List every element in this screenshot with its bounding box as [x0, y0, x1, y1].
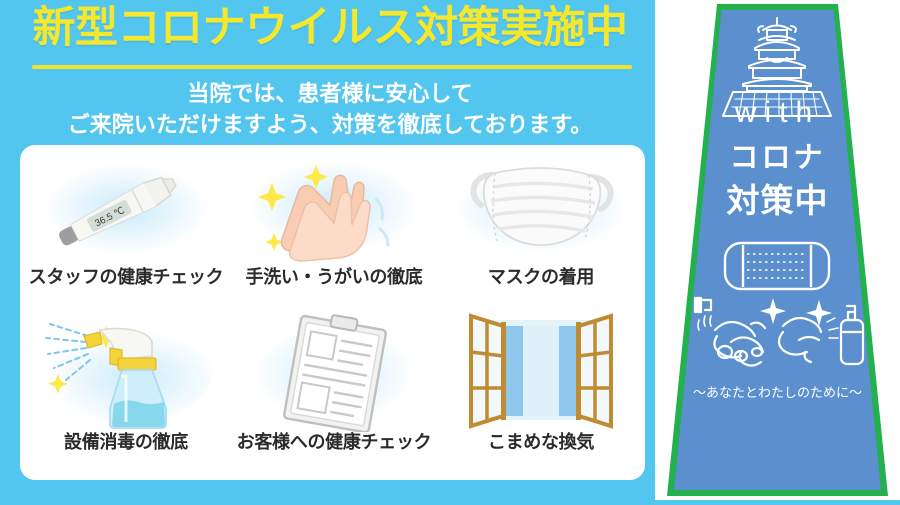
measure-item-label: こまめな換気: [437, 428, 645, 454]
measure-item-disinfection: 設備消毒の徹底: [22, 310, 230, 477]
measure-item-label: 手洗い・うがいの徹底: [230, 263, 438, 289]
page-title: 新型コロナウイルス対策実施中: [0, 6, 660, 51]
measure-item-label: スタッフの健康チェック: [22, 263, 230, 289]
measure-item-hand-washing: 手洗い・うがいの徹底: [230, 145, 438, 312]
measure-item-label: お客様への健康チェック: [230, 428, 438, 454]
measures-grid: 36.5 ℃ スタッフの健康チェック: [20, 145, 645, 480]
subtitle-line-2: ご来院いただけますよう、対策を徹底しております。: [0, 109, 660, 140]
measures-card: 36.5 ℃ スタッフの健康チェック: [20, 145, 645, 480]
measure-item-mask: マスクの着用: [437, 145, 645, 312]
open-window-icon: [437, 312, 645, 432]
measure-item-health-check: 36.5 ℃ スタッフの健康チェック: [22, 145, 230, 312]
subtitle-line-1: 当院では、患者様に安心して: [0, 78, 660, 109]
face-mask-icon: [437, 147, 645, 267]
hand-washing-icon: [230, 147, 438, 267]
measure-item-label: マスクの着用: [437, 263, 645, 289]
subtitle-block: 当院では、患者様に安心して ご来院いただけますよう、対策を徹底しております。: [0, 78, 660, 140]
thermometer-icon: 36.5 ℃: [22, 147, 230, 267]
measure-item-label: 設備消毒の徹底: [22, 428, 230, 454]
poster-stage: 新型コロナウイルス対策実施中 当院では、患者様に安心して ご来院いただけますよう…: [0, 0, 900, 500]
banner-shape: [655, 0, 900, 500]
clipboard-checklist-icon: [230, 312, 438, 432]
measure-item-ventilation: こまめな換気: [437, 310, 645, 477]
measure-item-customer-health-check: お客様への健康チェック: [230, 310, 438, 477]
spray-bottle-icon: [22, 312, 230, 432]
clinic-poster: 新型コロナウイルス対策実施中 当院では、患者様に安心して ご来院いただけますよう…: [0, 0, 660, 500]
with-corona-banner: with コロナ 対策中 〜あなたとわたしのために〜 店舗名: [655, 0, 900, 500]
title-underline-divider: [32, 65, 632, 69]
